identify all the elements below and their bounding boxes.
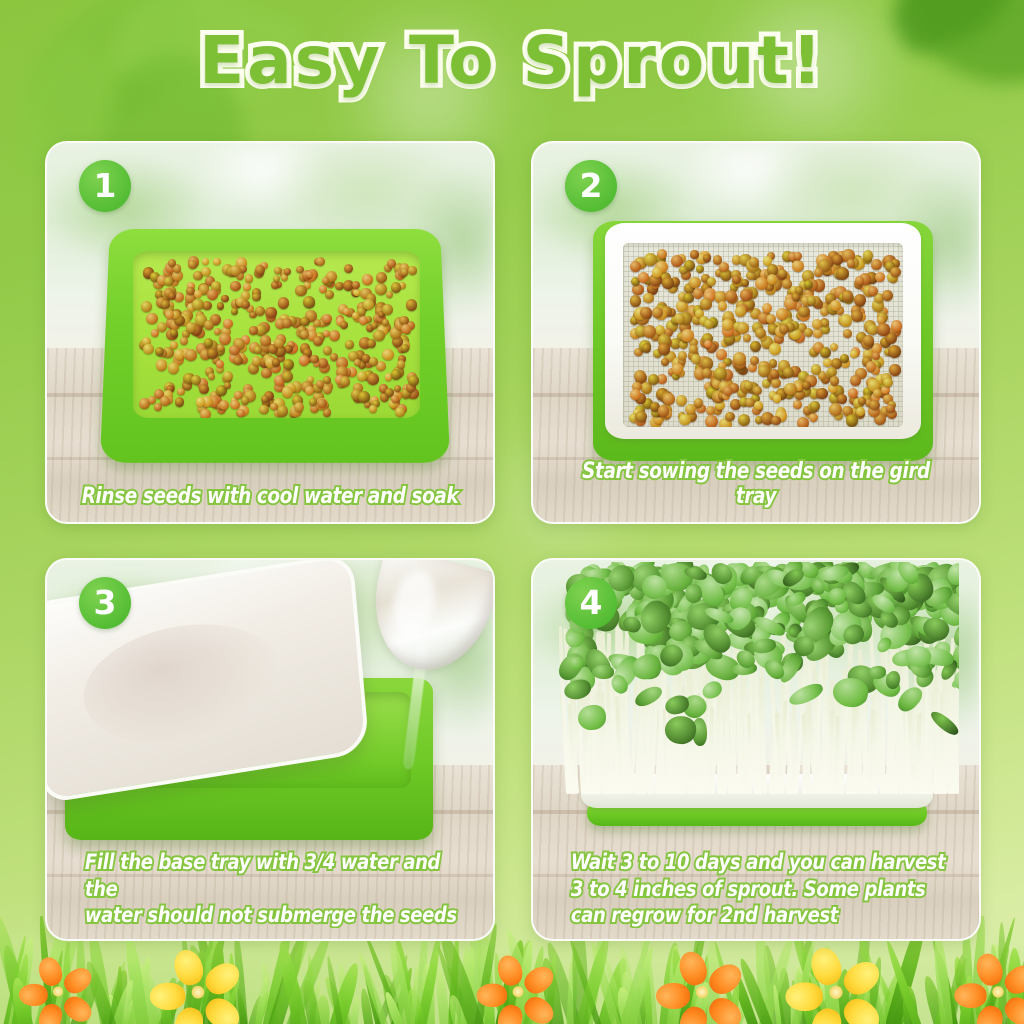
seed <box>671 255 683 267</box>
flower-petal <box>35 954 65 988</box>
seed <box>678 351 687 360</box>
flower-petal <box>170 946 207 988</box>
seed <box>317 399 326 408</box>
flower-petal <box>675 948 710 988</box>
seed <box>369 405 377 413</box>
seed <box>141 301 152 312</box>
seed <box>382 304 393 315</box>
seed <box>840 354 849 363</box>
seed <box>858 397 866 405</box>
seed <box>237 409 245 417</box>
seed <box>391 369 402 380</box>
grid-tray <box>593 221 933 461</box>
seed <box>310 355 319 364</box>
seed <box>837 394 847 404</box>
seed <box>663 393 675 405</box>
seed <box>157 322 168 333</box>
seed <box>662 277 673 288</box>
seed <box>630 261 642 273</box>
tray-well-with-water <box>133 251 420 418</box>
seed <box>840 314 852 326</box>
flower-center <box>53 986 63 996</box>
seed <box>886 404 895 413</box>
seed <box>755 328 765 338</box>
seed <box>648 374 659 385</box>
seed <box>300 330 309 339</box>
seed <box>643 325 656 338</box>
seed <box>809 413 819 423</box>
microgreens-cluster <box>559 562 959 794</box>
seed <box>889 364 900 375</box>
seed <box>213 258 220 265</box>
seed <box>316 257 325 266</box>
seed <box>638 272 649 283</box>
seed <box>816 388 827 399</box>
flower-icon <box>672 954 732 1024</box>
seed <box>830 343 838 351</box>
seed <box>224 382 231 389</box>
seed <box>877 323 889 335</box>
seed <box>277 405 289 417</box>
seed <box>804 280 813 289</box>
seed <box>397 360 405 368</box>
seed <box>866 361 877 372</box>
seed <box>208 373 215 380</box>
seed <box>230 281 241 292</box>
seed <box>175 397 184 406</box>
seed <box>382 349 394 361</box>
seed <box>863 335 874 346</box>
seed <box>284 268 291 275</box>
seed <box>850 350 859 359</box>
seed <box>254 346 262 354</box>
seed <box>679 266 687 274</box>
seed <box>820 347 831 358</box>
seed <box>778 269 787 278</box>
seed <box>217 302 225 310</box>
seed <box>363 299 374 310</box>
seed <box>882 290 893 301</box>
seed <box>300 317 310 327</box>
seed <box>888 345 901 358</box>
seed <box>814 268 823 277</box>
seed <box>230 265 241 276</box>
step-caption: Wait 3 to 10 days and you can harvest 3 … <box>549 850 964 929</box>
seed <box>207 289 218 300</box>
seed <box>340 376 350 386</box>
seed <box>343 308 350 315</box>
seed <box>168 259 176 267</box>
seed <box>313 336 324 347</box>
seed <box>737 322 749 334</box>
flower-center <box>513 986 524 997</box>
seed <box>792 260 804 272</box>
seed <box>640 307 652 319</box>
seed <box>382 319 389 326</box>
seed <box>753 386 762 395</box>
seed <box>679 414 691 426</box>
seed <box>776 308 788 320</box>
flower-petal <box>785 982 822 1011</box>
seed <box>156 359 168 371</box>
seed <box>282 371 293 382</box>
seed <box>700 298 711 309</box>
seed <box>303 296 315 308</box>
flower-petal <box>1000 992 1024 1024</box>
seed <box>733 352 746 365</box>
seed <box>883 378 892 387</box>
seed <box>830 376 840 386</box>
seed <box>401 324 411 334</box>
seed <box>854 294 866 306</box>
seed <box>868 286 878 296</box>
seed <box>143 344 154 355</box>
seed <box>170 341 178 349</box>
seed <box>643 293 654 304</box>
seed <box>850 375 861 386</box>
seed <box>249 326 257 334</box>
seed <box>741 279 749 287</box>
seed <box>146 313 158 325</box>
caption-line: water should not submerge the seeds <box>85 903 464 929</box>
seed <box>273 275 280 282</box>
seed <box>252 293 260 301</box>
flower-petal <box>477 984 508 1007</box>
seed <box>345 340 353 348</box>
seed <box>848 388 858 398</box>
seed <box>408 266 417 275</box>
flower-icon <box>491 958 545 1021</box>
seed <box>630 295 641 306</box>
seed <box>194 290 203 299</box>
seed <box>233 356 242 365</box>
seed <box>219 400 230 411</box>
seed <box>693 288 704 299</box>
seed <box>367 373 379 385</box>
seed <box>221 295 228 302</box>
seed <box>875 272 885 282</box>
seed <box>843 329 852 338</box>
seed <box>177 388 185 396</box>
seed <box>230 400 240 410</box>
seed <box>207 348 218 359</box>
seed <box>241 300 250 309</box>
seed <box>810 401 820 411</box>
seed <box>202 301 212 311</box>
seed <box>265 307 277 319</box>
flower-petal <box>19 984 48 1006</box>
flower-icon <box>33 959 84 1019</box>
seed <box>706 406 715 415</box>
seed <box>387 259 396 268</box>
seed <box>259 405 268 414</box>
flower-icon <box>970 956 1024 1023</box>
seed <box>642 343 651 352</box>
flower-petal <box>150 983 186 1010</box>
page-title: Easy To Sprout! <box>0 22 1024 99</box>
seed <box>685 404 695 414</box>
seed <box>869 400 879 410</box>
step-card-4: 4 Wait 3 to 10 days and you can harvest … <box>531 558 981 941</box>
seed <box>155 347 164 356</box>
seed <box>180 337 188 345</box>
seed <box>255 306 265 316</box>
caption-line: can regrow for 2nd harvest <box>571 903 950 929</box>
seed <box>798 306 810 318</box>
seed <box>750 341 761 352</box>
seed <box>295 285 307 297</box>
seed <box>376 272 387 283</box>
seed <box>807 296 816 305</box>
seed <box>294 402 304 412</box>
flower-petal <box>954 983 986 1008</box>
green-soak-tray <box>105 225 445 460</box>
flower-petal <box>973 950 1006 988</box>
step-caption: Start sowing the seeds on the gird tray <box>549 459 964 510</box>
seed <box>231 308 239 316</box>
seed <box>201 267 211 277</box>
seed <box>722 319 733 330</box>
tray-mesh-grid <box>623 243 903 427</box>
seed <box>406 299 418 311</box>
seed <box>352 281 360 289</box>
seed <box>270 403 277 410</box>
caption-line: Fill the base tray with 3/4 water and th… <box>85 850 464 902</box>
seed <box>305 386 314 395</box>
seed <box>371 322 378 329</box>
seed <box>811 364 821 374</box>
step-number-badge: 3 <box>79 577 131 629</box>
seed <box>185 349 197 361</box>
seed <box>718 301 728 311</box>
seed <box>391 395 399 403</box>
seed <box>661 358 669 366</box>
seed <box>401 268 408 275</box>
seed <box>272 358 280 366</box>
seed <box>696 265 704 273</box>
seed <box>160 396 171 407</box>
seed <box>784 383 796 395</box>
seed-cluster <box>623 243 903 427</box>
seed <box>758 365 770 377</box>
seed <box>723 386 733 396</box>
seed <box>694 398 703 407</box>
seed <box>855 276 864 285</box>
seed <box>323 385 332 394</box>
seed <box>196 397 206 407</box>
seed <box>830 300 841 311</box>
caption-line: 3 to 4 inches of sprout. Some plants <box>571 877 950 903</box>
flower-petal <box>656 983 690 1009</box>
step-caption: Rinse seeds with cool water and soak <box>63 484 478 510</box>
flower-petal <box>807 944 846 988</box>
seed <box>229 345 240 356</box>
seed <box>278 297 290 309</box>
seed <box>204 320 214 330</box>
step-card-3: 3 Fill the base tray with 3/4 water and … <box>45 558 495 941</box>
seed <box>373 330 384 341</box>
seed <box>234 391 242 399</box>
seed <box>329 330 340 341</box>
step-caption: Fill the base tray with 3/4 water and th… <box>63 850 478 929</box>
seed <box>395 407 405 417</box>
seed <box>192 299 204 311</box>
seed <box>783 367 794 378</box>
steps-grid: 1 Rinse seeds with cool water and soak 2… <box>45 141 981 941</box>
seed <box>891 320 903 332</box>
seed <box>797 417 809 427</box>
step-card-1: 1 Rinse seeds with cool water and soak <box>45 141 495 524</box>
seed <box>282 386 293 397</box>
seed <box>871 259 881 269</box>
seed <box>401 344 409 352</box>
seed <box>725 412 735 422</box>
seed <box>261 368 272 379</box>
seed <box>168 362 179 373</box>
seed <box>735 306 746 317</box>
seed <box>762 303 772 313</box>
seed <box>199 384 209 394</box>
seed <box>890 267 901 278</box>
seed <box>847 259 856 268</box>
seed <box>223 319 232 328</box>
seed <box>707 277 716 286</box>
seed <box>689 345 697 353</box>
seed <box>767 274 778 285</box>
flower-icon <box>167 952 230 1024</box>
seed-cluster <box>133 251 420 418</box>
seed <box>344 264 353 273</box>
seed <box>219 333 231 345</box>
step-number-badge: 1 <box>79 160 131 212</box>
seed <box>252 356 262 366</box>
seed <box>644 253 657 266</box>
seed <box>306 271 313 278</box>
flower-center <box>192 986 205 999</box>
flower-center <box>696 986 708 998</box>
flower-petal <box>494 952 526 988</box>
seed <box>846 414 858 426</box>
seed <box>703 254 711 262</box>
seed <box>691 354 701 364</box>
seed <box>769 343 781 355</box>
seed <box>851 310 863 322</box>
seed <box>188 260 197 269</box>
seed <box>243 283 251 291</box>
seed <box>804 328 813 337</box>
sprout-stem <box>791 698 795 794</box>
seed <box>200 409 210 418</box>
seed <box>282 318 292 328</box>
seed <box>681 329 694 342</box>
seed <box>881 386 890 395</box>
seed <box>743 334 751 342</box>
seed <box>690 250 698 258</box>
step-number-badge: 4 <box>565 577 617 629</box>
seed <box>391 282 401 292</box>
seed <box>773 394 781 402</box>
seed <box>863 250 874 261</box>
seed <box>779 324 789 334</box>
step-card-2: 2 Start sowing the seeds on the gird tra… <box>531 141 981 524</box>
seed <box>652 307 663 318</box>
seed <box>223 371 234 382</box>
seed <box>793 400 802 409</box>
step-number-badge: 2 <box>565 160 617 212</box>
seed <box>408 375 419 386</box>
seed <box>354 359 361 366</box>
seed <box>340 321 348 329</box>
seed <box>771 416 780 425</box>
flower-center <box>829 986 842 999</box>
seed <box>702 368 712 378</box>
seed <box>836 267 849 280</box>
flower-center <box>992 986 1003 997</box>
flower-icon <box>803 951 869 1024</box>
caption-line: Wait 3 to 10 days and you can harvest <box>571 850 950 876</box>
seed <box>204 338 214 348</box>
seed <box>658 405 670 417</box>
seed <box>245 274 254 283</box>
seed <box>705 415 718 427</box>
seed <box>170 329 178 337</box>
seed <box>330 353 338 361</box>
seed <box>704 319 714 329</box>
seed <box>309 398 317 406</box>
seed <box>635 411 646 422</box>
seed <box>812 319 822 329</box>
seed <box>359 316 368 325</box>
seed <box>738 414 750 426</box>
seed <box>367 339 376 348</box>
seed <box>283 359 294 370</box>
seed <box>634 370 646 382</box>
seed <box>732 275 741 284</box>
seed <box>299 355 310 366</box>
seed <box>714 367 726 379</box>
seed <box>362 274 373 285</box>
seed <box>842 290 854 302</box>
seed <box>358 391 370 403</box>
seed <box>689 277 700 288</box>
seed <box>186 322 197 333</box>
seed <box>856 407 865 416</box>
seed <box>771 378 782 389</box>
seed <box>657 249 667 259</box>
seed <box>672 363 684 375</box>
seed <box>725 290 737 302</box>
seed <box>202 258 209 265</box>
seed <box>740 289 751 300</box>
seed <box>754 401 762 409</box>
seed <box>794 252 802 260</box>
